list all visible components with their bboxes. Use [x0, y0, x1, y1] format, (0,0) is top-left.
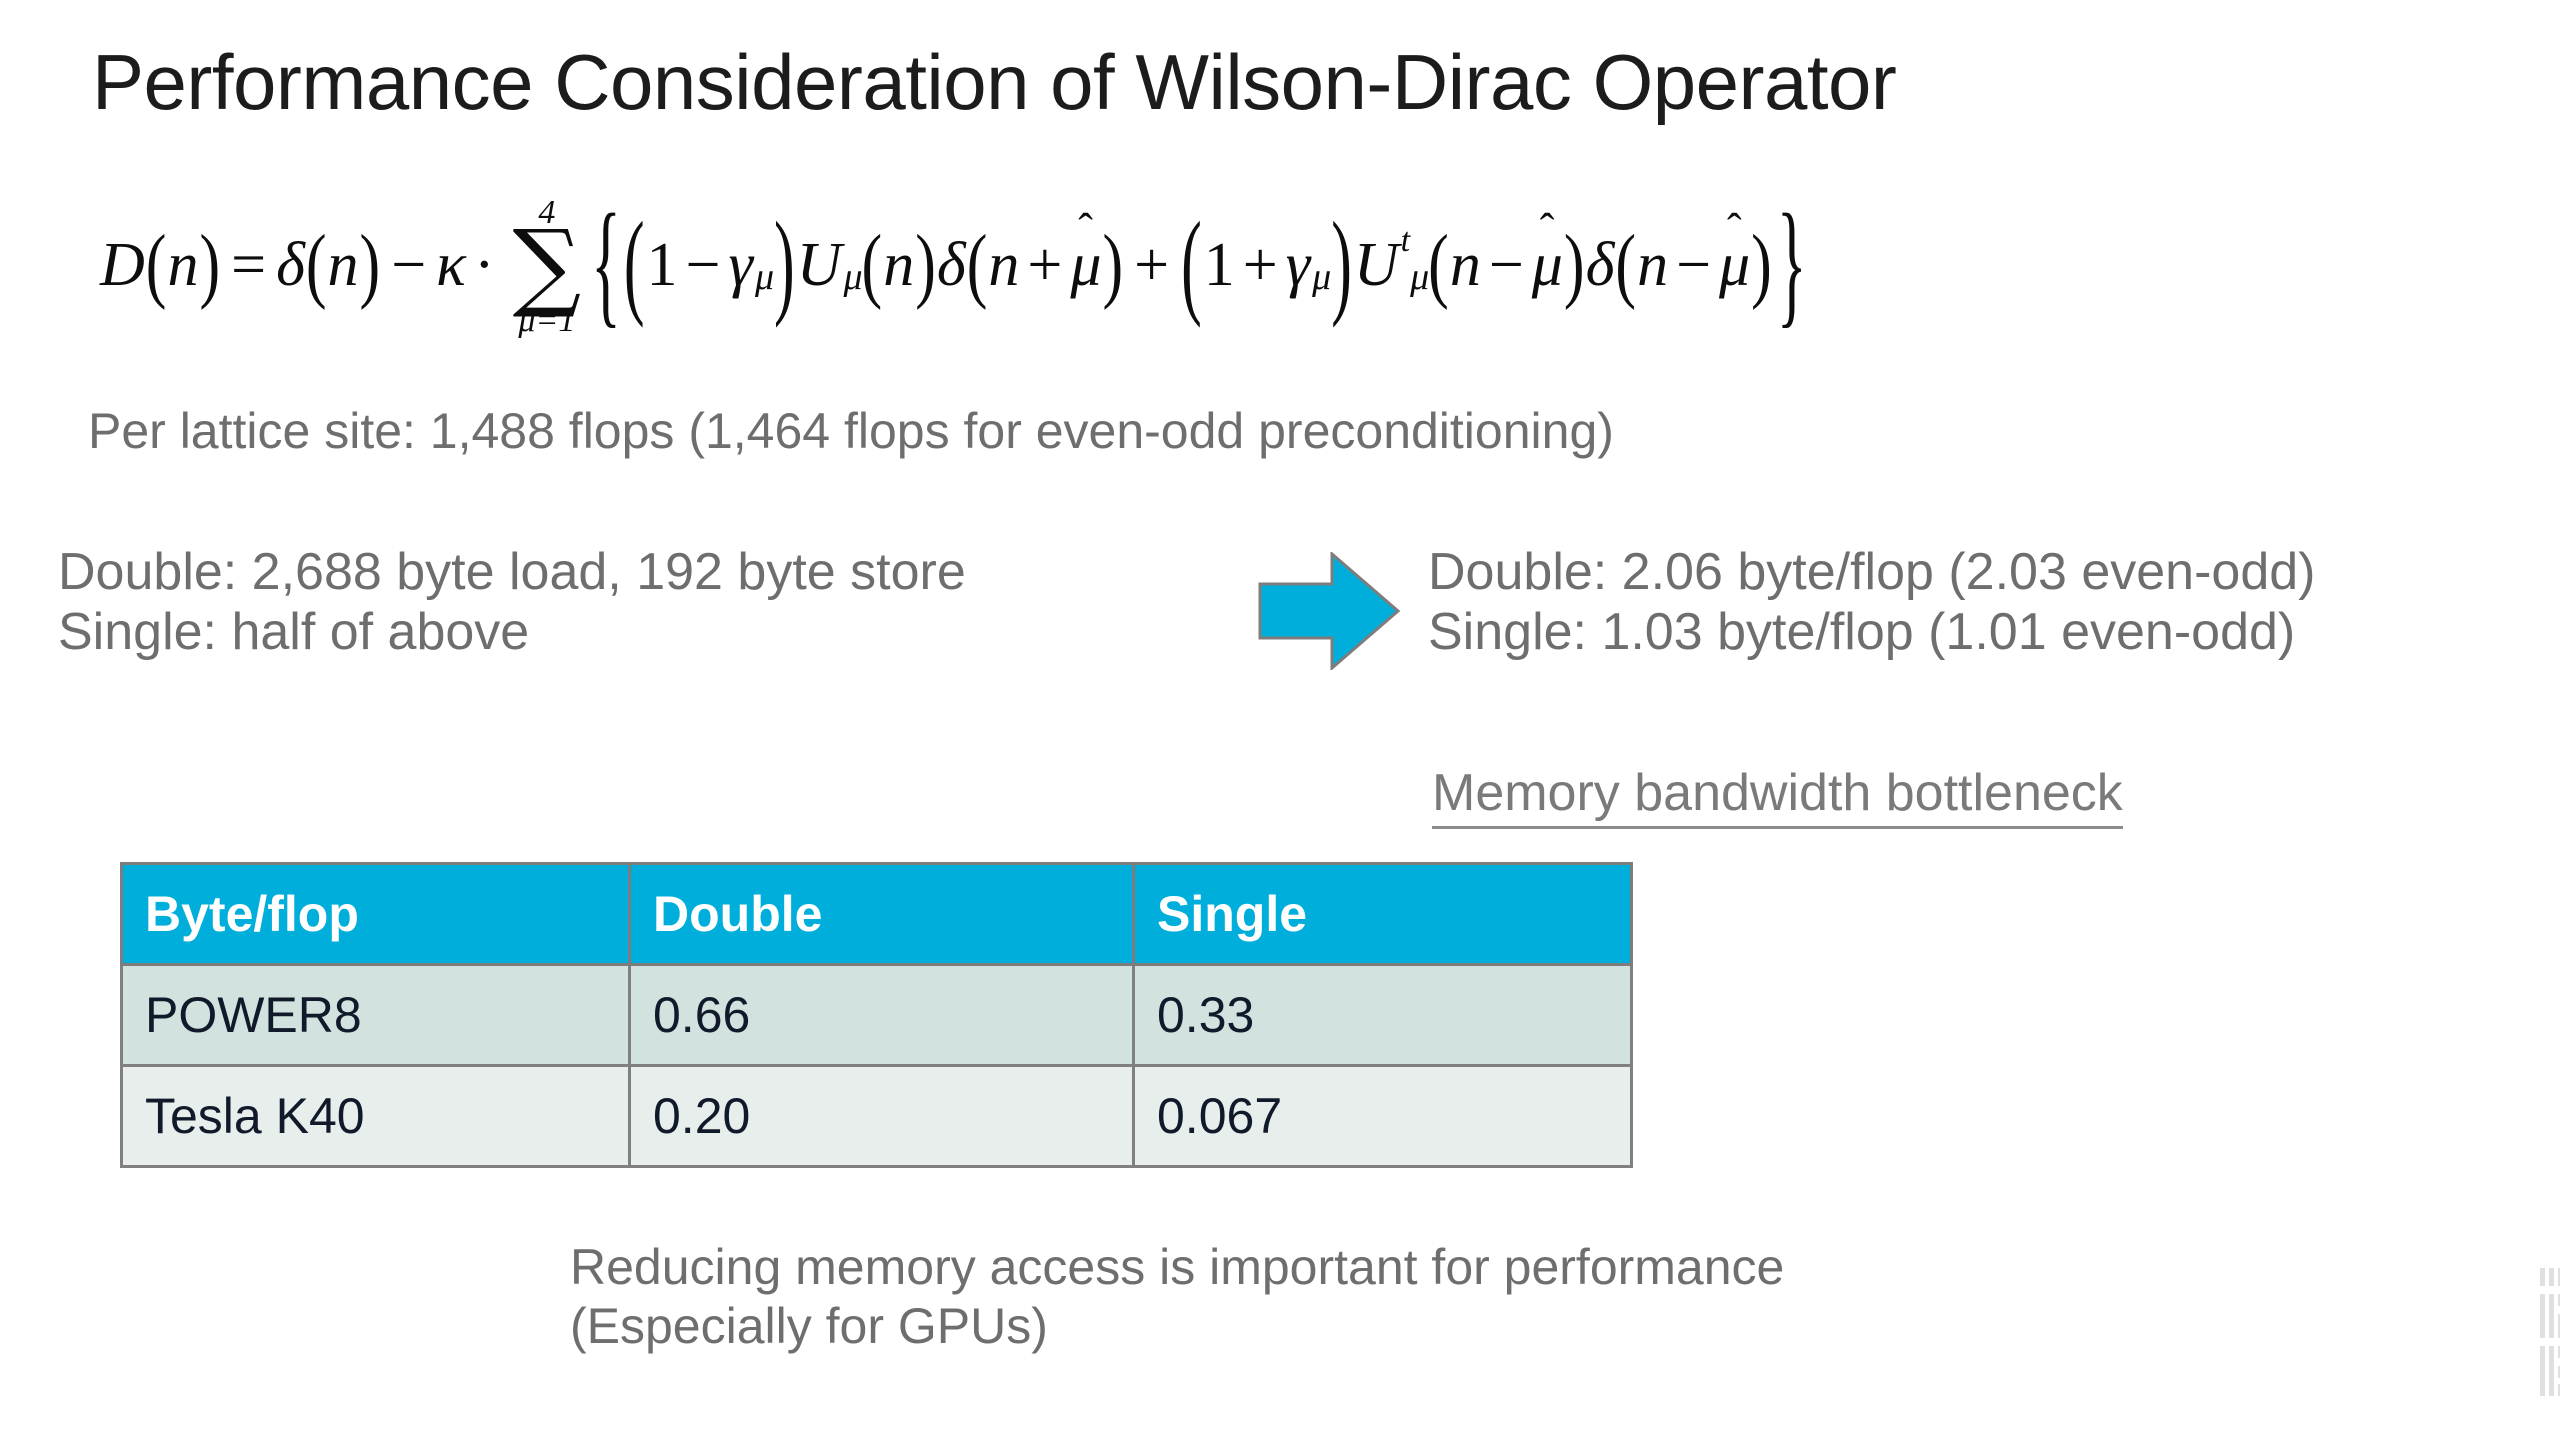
table-row: POWER8 0.66 0.33: [122, 965, 1632, 1066]
wilson-dirac-equation: D(n) = δ(n) − κ · 4 ∑ μ=1 {(1 − γμ)Uμ(n)…: [100, 185, 1808, 345]
byteflop-double-line: Double: 2.06 byte/flop (2.03 even-odd): [1428, 542, 2315, 602]
bytes-per-site-block: Double: 2,688 byte load, 192 byte store …: [58, 542, 966, 663]
table-header-single: Single: [1134, 864, 1632, 965]
table-cell-device: Tesla K40: [122, 1066, 630, 1167]
conclusion-line-2: (Especially for GPUs): [570, 1297, 1784, 1356]
right-arrow-icon: [1258, 552, 1400, 670]
bytes-single-line: Single: half of above: [58, 602, 966, 662]
summation-symbol: 4 ∑ μ=1: [513, 196, 582, 339]
ibm-logo: [2538, 1268, 2560, 1396]
table-cell-double: 0.66: [630, 965, 1134, 1066]
table-header-double: Double: [630, 864, 1134, 965]
byte-per-flop-table: Byte/flop Double Single POWER8 0.66 0.33…: [120, 862, 1633, 1168]
byteflop-single-line: Single: 1.03 byte/flop (1.01 even-odd): [1428, 602, 2315, 662]
bottleneck-note: Memory bandwidth bottleneck: [1432, 765, 2123, 829]
table-header-row: Byte/flop Double Single: [122, 864, 1632, 965]
table-cell-device: POWER8: [122, 965, 630, 1066]
slide-canvas: Performance Consideration of Wilson-Dira…: [0, 0, 2560, 1440]
flops-note: Per lattice site: 1,488 flops (1,464 flo…: [88, 402, 1614, 460]
conclusion-line-1: Reducing memory access is important for …: [570, 1238, 1784, 1297]
table-cell-double: 0.20: [630, 1066, 1134, 1167]
table-header-byteflop: Byte/flop: [122, 864, 630, 965]
conclusion-note: Reducing memory access is important for …: [570, 1238, 1784, 1355]
table-cell-single: 0.33: [1134, 965, 1632, 1066]
page-title: Performance Consideration of Wilson-Dira…: [92, 42, 2472, 124]
bytes-double-line: Double: 2,688 byte load, 192 byte store: [58, 542, 966, 602]
table-row: Tesla K40 0.20 0.067: [122, 1066, 1632, 1167]
table-cell-single: 0.067: [1134, 1066, 1632, 1167]
byte-per-flop-block: Double: 2.06 byte/flop (2.03 even-odd) S…: [1428, 542, 2315, 663]
